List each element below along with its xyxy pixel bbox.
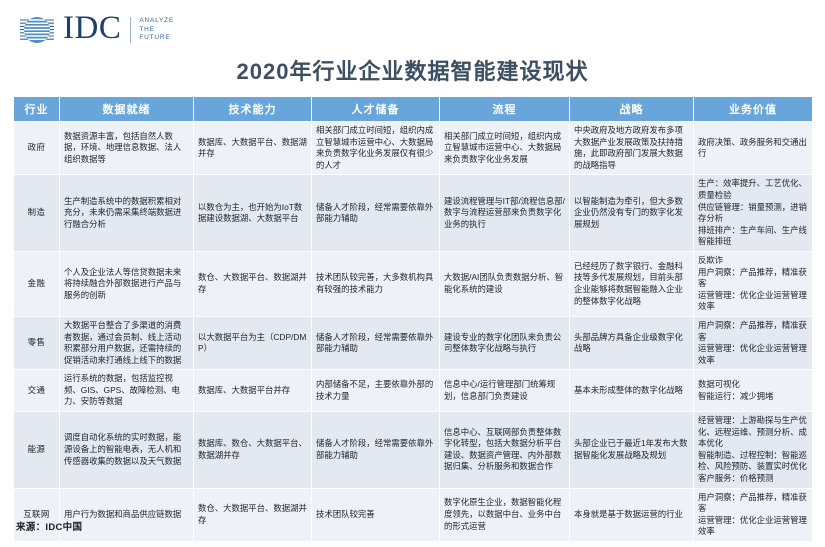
- cell-industry: 交通: [14, 370, 60, 412]
- cell-process: 信息中心、互联网部负责整体数字化转型，包括大数据分析平台建设、数据资产管理、内外…: [440, 412, 570, 489]
- cell-tech-capability: 以大数据平台为主（CDP/DMP）: [194, 316, 312, 369]
- cell-process: 建设流程管理与IT部/流程信息部/数字与流程运营部来负责数字化业务的执行: [440, 175, 570, 252]
- cell-value: 反欺诈 用户洞察：产品推荐，精准获客 运营管理：优化企业运营管理效率: [694, 251, 813, 316]
- cell-industry: 互联网: [14, 488, 60, 541]
- column-header-value: 业务价值: [694, 97, 813, 122]
- tagline-line-2: THE: [139, 26, 174, 35]
- cell-talent: 储备人才阶段，经常需要依靠外部能力辅助: [312, 316, 440, 369]
- table-header-row: 行业 数据就绪 技术能力 人才储备 流程 战略 业务价值: [14, 97, 813, 122]
- idc-logo: IDC ANALYZE THE FUTURE: [18, 10, 174, 50]
- cell-data-readiness: 个人及企业法人等信贷数据未来将持续融合外部数据进行产品与服务的创新: [60, 251, 194, 316]
- column-header-process: 流程: [440, 97, 570, 122]
- cell-strategy: 本身就是基于数据运营的行业: [570, 488, 694, 541]
- cell-value: 政府决策、政务服务和交通出行: [694, 122, 813, 175]
- cell-process: 相关部门成立时间短，组织内成立智慧城市运营中心、大数据局来负责数字化业务发展: [440, 122, 570, 175]
- cell-industry: 能源: [14, 412, 60, 489]
- cell-strategy: 基本未形成整体的数字化战略: [570, 370, 694, 412]
- source-note: 来源：IDC中国: [16, 519, 82, 533]
- table-row: 政府 数据资源丰富，包括自然人数据，环境、地理信息数据、法人组织数据等 数据库、…: [14, 122, 813, 175]
- industry-matrix-table: 行业 数据就绪 技术能力 人才储备 流程 战略 业务价值 政府 数据资源丰富，包…: [13, 96, 812, 542]
- table-row: 金融 个人及企业法人等信贷数据未来将持续融合外部数据进行产品与服务的创新 数仓、…: [14, 251, 813, 316]
- cell-data-readiness: 用户行为数据和商品供应链数据: [60, 488, 194, 541]
- cell-strategy: 中央政府及地方政府发布多项大数据产业发展政策及扶持措施，此即政府部门发展大数据的…: [570, 122, 694, 175]
- cell-tech-capability: 以数仓为主，也开始为IoT数据建设数据湖、大数据平台: [194, 175, 312, 252]
- cell-talent: 储备人才阶段，经常需要依靠外部能力辅助: [312, 412, 440, 489]
- cell-talent: 技术团队较完善，大多数机构具有较强的技术能力: [312, 251, 440, 316]
- cell-data-readiness: 调度自动化系统的实时数据，能源设备上的智能电表，无人机和传感器收集的数据以及天气…: [60, 412, 194, 489]
- cell-process: 数字化原生企业，数据智能化程度领先，以数据中台、业务中台的形式运营: [440, 488, 570, 541]
- cell-process: 信息中心/运行管理部门统筹规划，信息部门负责建设: [440, 370, 570, 412]
- table-row: 制造 生产制造系统中的数据积累相对充分，未来仍需采集终端数据进行融合分析 以数仓…: [14, 175, 813, 252]
- cell-value: 生产：效率提升、工艺优化、质量检验 供应链管理：销量预测，进销存分析 排班排产：…: [694, 175, 813, 252]
- logo-divider: [130, 17, 131, 43]
- slide-root: IDC ANALYZE THE FUTURE 2020年行业企业数据智能建设现状…: [0, 0, 825, 547]
- cell-value: 用户洞察：产品推荐，精准获客 运营管理：优化企业运营管理效率: [694, 488, 813, 541]
- table-row: 零售 大数据平台整合了多渠道的消费者数据，通过会员制、线上活动积累部分用户数据，…: [14, 316, 813, 369]
- cell-value: 用户洞察：产品推荐，精准获客 运营管理：优化企业运营管理效率: [694, 316, 813, 369]
- cell-talent: 相关部门成立时间短，组织内成立智慧城市运营中心、大数据局来负责数字化业务发展仅有…: [312, 122, 440, 175]
- cell-tech-capability: 数据库、大数据平台并存: [194, 370, 312, 412]
- cell-value: 数据可视化 智能运行：减少拥堵: [694, 370, 813, 412]
- idc-tagline: ANALYZE THE FUTURE: [139, 17, 174, 43]
- cell-tech-capability: 数据库、大数据平台、数据湖并存: [194, 122, 312, 175]
- tagline-line-3: FUTURE: [139, 34, 174, 43]
- column-header-data-readiness: 数据就绪: [60, 97, 194, 122]
- cell-process: 大数据/AI团队负责数据分析、智能化系统的建设: [440, 251, 570, 316]
- cell-data-readiness: 运行系统的数据，包括监控视频、GIS、GPS、故障检测、电力、安防等数据: [60, 370, 194, 412]
- cell-strategy: 已经经历了数字银行、金融科技等多代发展规划，目前头部企业能够将数据智能融入企业的…: [570, 251, 694, 316]
- cell-industry: 制造: [14, 175, 60, 252]
- table-row: 能源 调度自动化系统的实时数据，能源设备上的智能电表，无人机和传感器收集的数据以…: [14, 412, 813, 489]
- cell-tech-capability: 数仓、大数据平台、数据湖并存: [194, 251, 312, 316]
- column-header-tech-capability: 技术能力: [194, 97, 312, 122]
- table-row: 互联网 用户行为数据和商品供应链数据 数仓、大数据平台、数据湖并存 技术团队较完…: [14, 488, 813, 541]
- cell-talent: 内部储备不足，主要依靠外部的技术力量: [312, 370, 440, 412]
- cell-data-readiness: 数据资源丰富，包括自然人数据，环境、地理信息数据、法人组织数据等: [60, 122, 194, 175]
- cell-industry: 金融: [14, 251, 60, 316]
- cell-talent: 储备人才阶段，经常需要依靠外部能力辅助: [312, 175, 440, 252]
- cell-data-readiness: 大数据平台整合了多渠道的消费者数据，通过会员制、线上活动积累部分用户数据，还需持…: [60, 316, 194, 369]
- table-row: 交通 运行系统的数据，包括监控视频、GIS、GPS、故障检测、电力、安防等数据 …: [14, 370, 813, 412]
- cell-strategy: 以智能制造为牵引，但大多数企业仍然没有专门的数字化发展规划: [570, 175, 694, 252]
- cell-tech-capability: 数据库、数仓、大数据平台、数据湖并存: [194, 412, 312, 489]
- idc-globe-icon: [18, 11, 56, 49]
- cell-industry: 政府: [14, 122, 60, 175]
- cell-industry: 零售: [14, 316, 60, 369]
- tagline-line-1: ANALYZE: [139, 17, 174, 26]
- cell-value: 经营管理：上游勘探与生产优化、远程运维、预测分析、成本优化 智能制造、过程控制：…: [694, 412, 813, 489]
- cell-strategy: 头部品牌方具备企业级数字化战略: [570, 316, 694, 369]
- idc-wordmark: IDC: [63, 12, 121, 48]
- cell-process: 建设专业的数字化团队来负责公司整体数字化战略与执行: [440, 316, 570, 369]
- cell-tech-capability: 数仓、大数据平台、数据湖并存: [194, 488, 312, 541]
- column-header-strategy: 战略: [570, 97, 694, 122]
- column-header-talent: 人才储备: [312, 97, 440, 122]
- page-title: 2020年行业企业数据智能建设现状: [0, 54, 825, 86]
- cell-data-readiness: 生产制造系统中的数据积累相对充分，未来仍需采集终端数据进行融合分析: [60, 175, 194, 252]
- column-header-industry: 行业: [14, 97, 60, 122]
- cell-strategy: 头部企业已于最近1年发布大数据智能化发展战略及规划: [570, 412, 694, 489]
- cell-talent: 技术团队较完善: [312, 488, 440, 541]
